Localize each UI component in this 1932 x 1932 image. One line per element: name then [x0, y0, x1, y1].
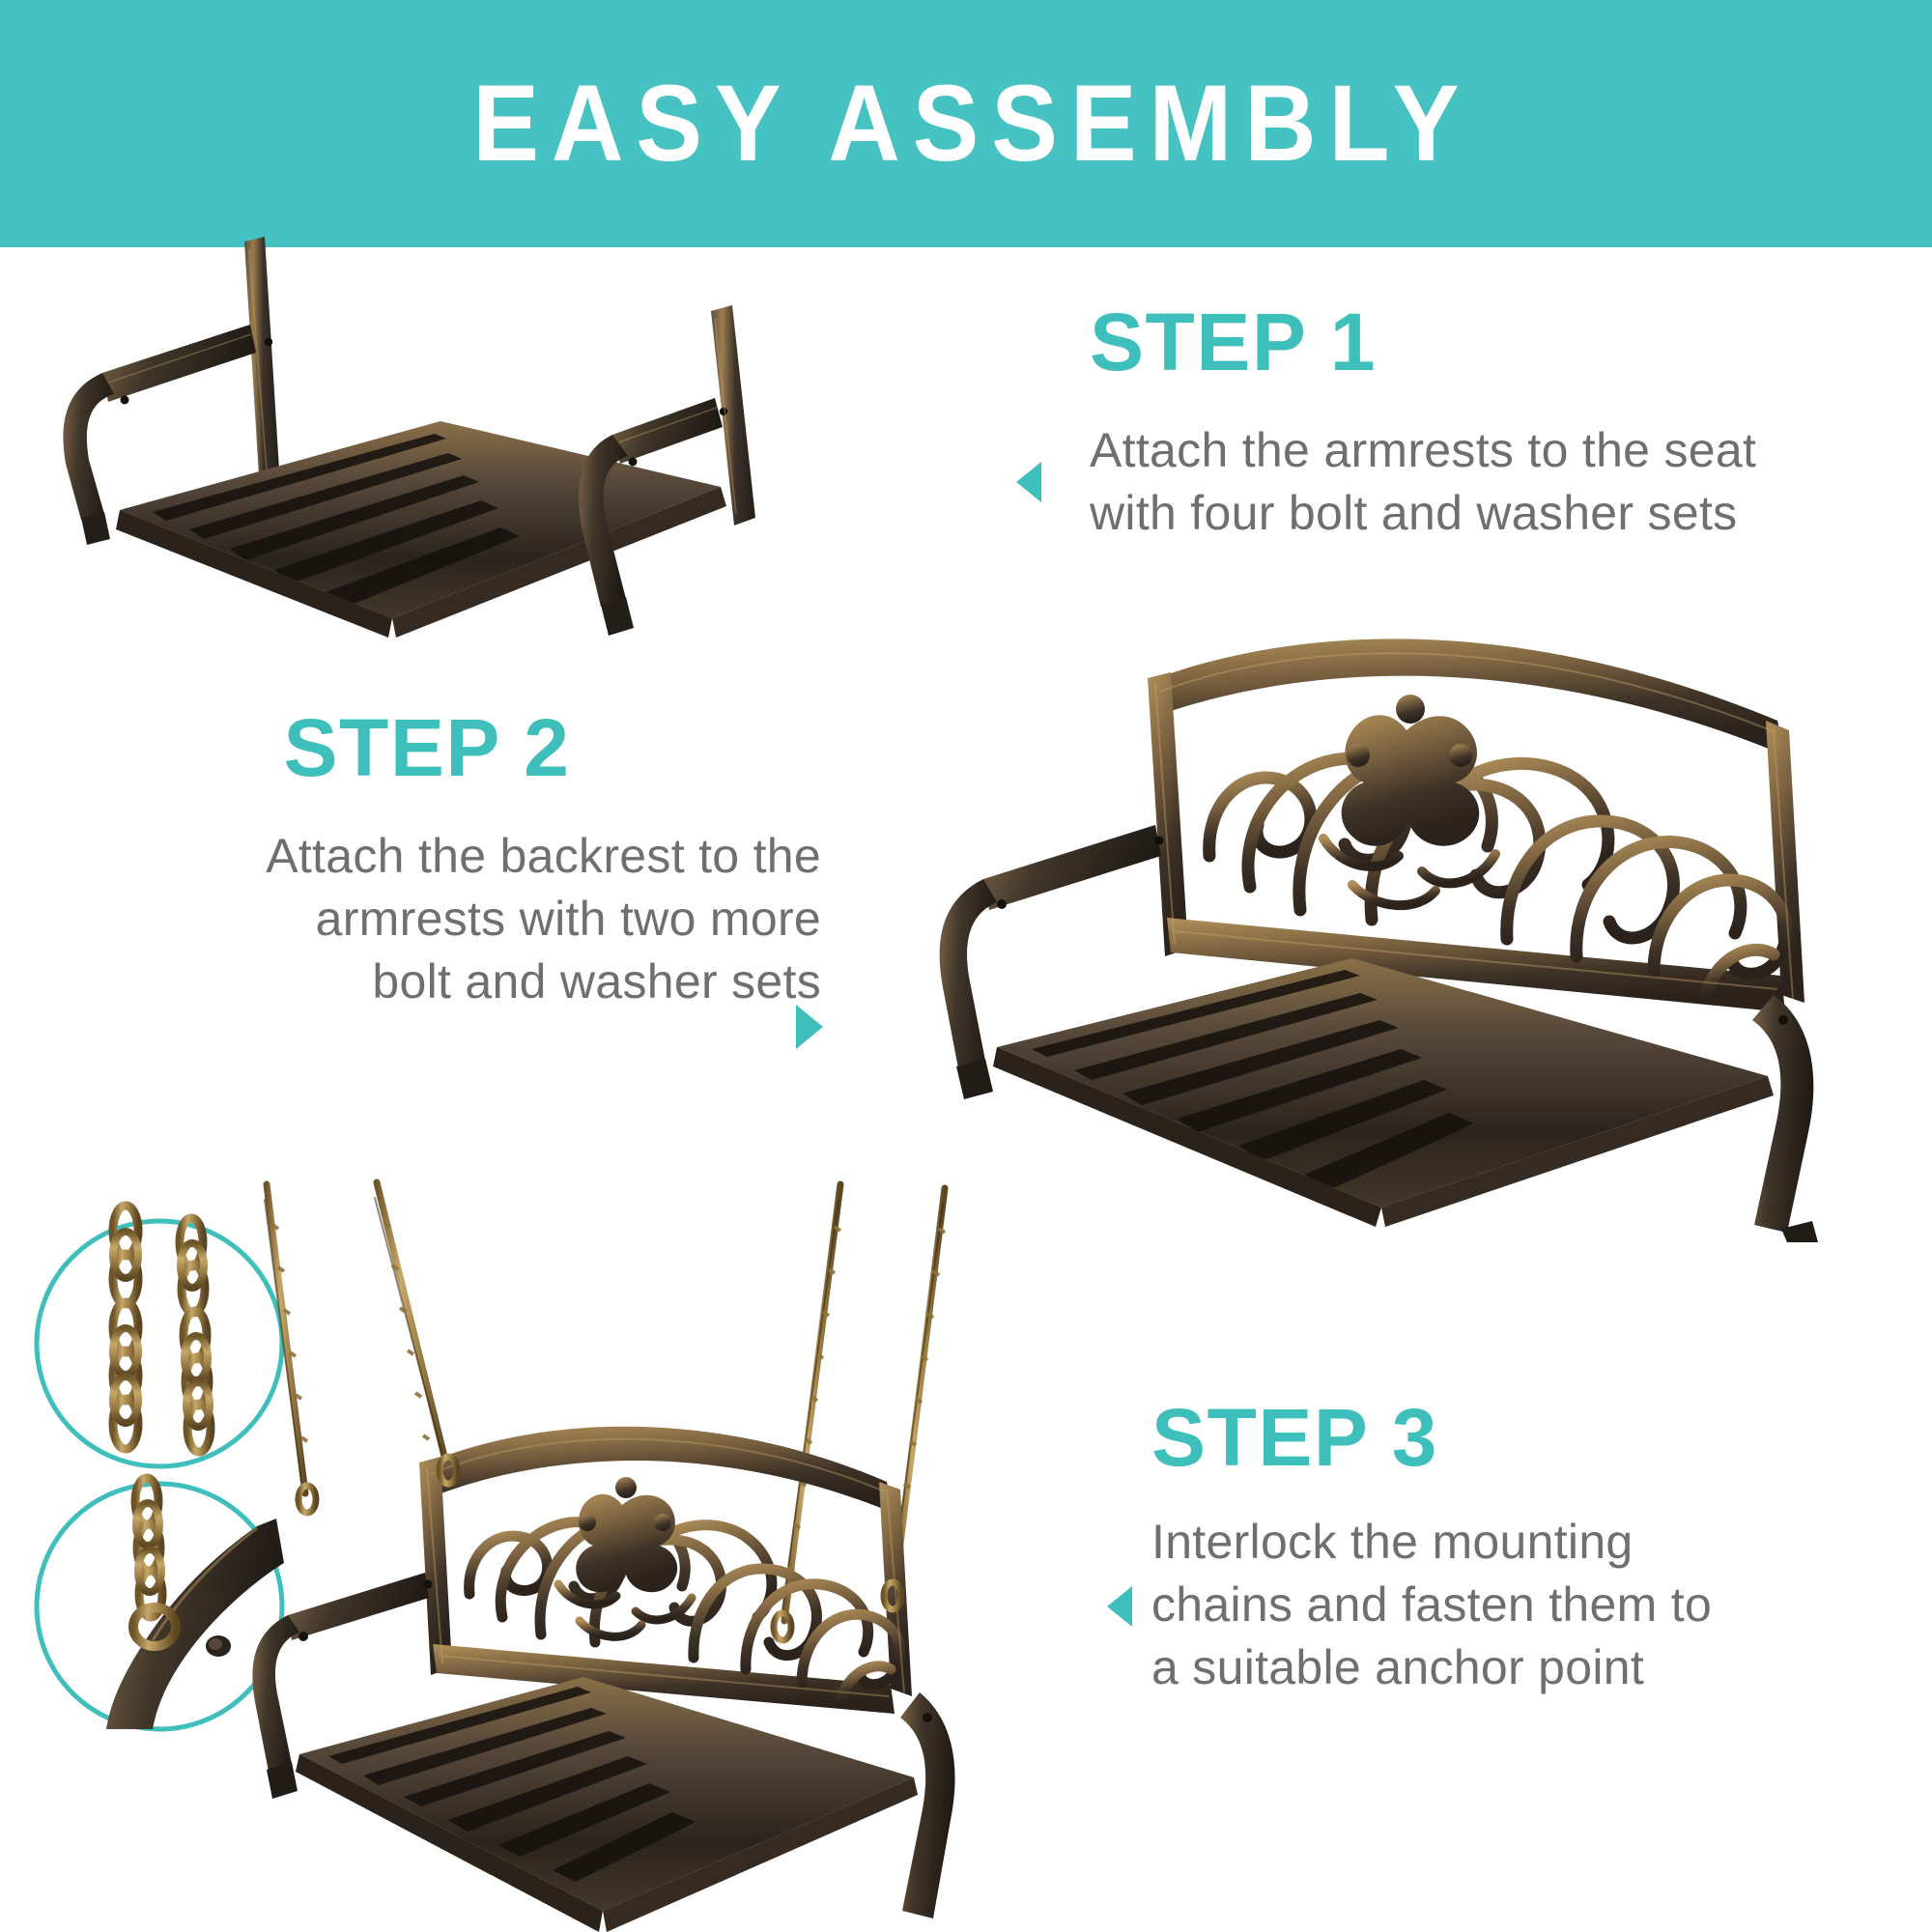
step-2-text-block: STEP 2 Attach the backrest to the armres…	[58, 707, 821, 1013]
step-2-body-line-2: armrests with two more	[58, 888, 821, 951]
triangle-left-icon	[1016, 462, 1041, 502]
step-2-heading: STEP 2	[58, 707, 821, 788]
step-3-text-block: STEP 3 Interlock the mounting chains and…	[1151, 1397, 1915, 1699]
step-3-heading: STEP 3	[1151, 1397, 1915, 1478]
step-3-body-line-1: Interlock the mounting	[1151, 1511, 1915, 1574]
step-1-body-line-1: Attach the armrests to the seat	[1090, 419, 1891, 482]
page-title: EASY ASSEMBLY	[461, 70, 1472, 178]
step-2-body-line-3: bolt and washer sets	[58, 951, 821, 1013]
step-3-body: Interlock the mounting chains and fasten…	[1151, 1511, 1915, 1699]
step-1-body: Attach the armrests to the seat with fou…	[1090, 419, 1891, 545]
header-banner: EASY ASSEMBLY	[0, 0, 1932, 247]
hanging-porch-swing-image	[205, 1175, 1132, 1932]
bench-with-backrest-image	[869, 566, 1922, 1242]
step-1-text-block: STEP 1 Attach the armrests to the seat w…	[1090, 301, 1891, 545]
step-3-body-line-3: a suitable anchor point	[1151, 1636, 1915, 1699]
content-stage: STEP 1 Attach the armrests to the seat w…	[0, 247, 1932, 1932]
step-2-body-line-1: Attach the backrest to the	[58, 825, 821, 888]
step-1-body-line-2: with four bolt and washer sets	[1090, 482, 1891, 545]
seat-frame-with-armrests-image	[44, 228, 952, 682]
step-3-body-line-2: chains and fasten them to	[1151, 1574, 1915, 1636]
step-2-body: Attach the backrest to the armrests with…	[58, 825, 821, 1013]
step-1-heading: STEP 1	[1090, 301, 1891, 383]
triangle-left-icon	[1107, 1586, 1132, 1627]
